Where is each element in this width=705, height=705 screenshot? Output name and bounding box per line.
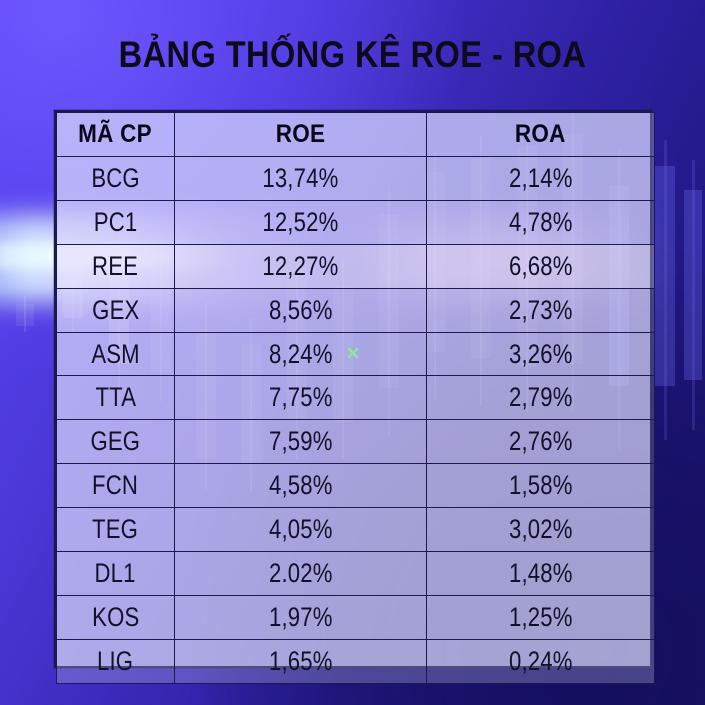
table-row: LIG 1,65% 0,24% [57, 639, 655, 683]
cell-code: TEG [57, 508, 175, 552]
cell-code: DL1 [57, 552, 175, 596]
cell-roa: 3,02% [427, 508, 655, 552]
cell-roe: 7,59% [175, 420, 427, 464]
table-row: TTA 7,75% 2,79% [57, 376, 655, 420]
cell-code-text: BCG [91, 163, 139, 194]
table-row: GEG 7,59% 2,76% [57, 420, 655, 464]
cell-code: FCN [57, 464, 175, 508]
roe-roa-table: MÃ CP ROE ROA BCG 13,74% 2,14% PC1 12,52… [56, 112, 655, 684]
cell-code-text: GEX [92, 295, 139, 326]
column-header-roe-label: ROE [276, 120, 326, 149]
cell-code-text: TTA [95, 382, 136, 413]
cell-roa: 6,68% [427, 244, 655, 288]
cell-roa: 4,78% [427, 200, 655, 244]
cell-roa-text: 3,02% [509, 514, 573, 545]
cell-roe-text: 7,75% [269, 382, 333, 413]
cell-roa: 1,48% [427, 552, 655, 596]
cell-roa: 2,79% [427, 376, 655, 420]
cell-roe-text: 1,97% [269, 602, 333, 633]
table-row: TEG 4,05% 3,02% [57, 508, 655, 552]
cell-code: GEG [57, 420, 175, 464]
cell-roa: 2,73% [427, 288, 655, 332]
cell-code-text: KOS [92, 602, 139, 633]
cell-roe-text: 8,56% [269, 295, 333, 326]
cell-code: ASM [57, 332, 175, 376]
cell-roa-text: 2,73% [509, 295, 573, 326]
column-header-code: MÃ CP [57, 113, 175, 157]
cell-roe: 8,24% [175, 332, 427, 376]
cell-roa: 1,25% [427, 595, 655, 639]
cell-code-text: LIG [97, 646, 133, 677]
column-header-roa: ROA [427, 113, 655, 157]
cell-code: KOS [57, 595, 175, 639]
table-row: BCG 13,74% 2,14% [57, 157, 655, 201]
cell-roa-text: 2,79% [509, 382, 573, 413]
cell-code-text: TEG [92, 514, 138, 545]
cell-code-text: DL1 [95, 558, 136, 589]
cell-roe: 13,74% [175, 157, 427, 201]
cell-roe-text: 8,24% [269, 339, 333, 370]
table-row: DL1 2.02% 1,48% [57, 552, 655, 596]
cell-code-text: GEG [91, 426, 141, 457]
cell-roe-text: 4,05% [269, 514, 333, 545]
cell-roe-text: 2.02% [269, 558, 333, 589]
table-header-row: MÃ CP ROE ROA [57, 113, 655, 157]
cell-roe: 7,75% [175, 376, 427, 420]
cell-roa-text: 1,25% [509, 602, 573, 633]
cell-roe-text: 7,59% [269, 426, 333, 457]
cell-roe-text: 1,65% [269, 646, 333, 677]
cell-roa: 2,14% [427, 157, 655, 201]
cell-roe-text: 12,27% [262, 251, 338, 282]
cell-roe: 4,05% [175, 508, 427, 552]
cell-code: PC1 [57, 200, 175, 244]
column-header-roe: ROE [175, 113, 427, 157]
column-header-code-label: MÃ CP [79, 120, 153, 149]
cell-roa-text: 1,48% [509, 558, 573, 589]
cell-roe-text: 13,74% [262, 163, 338, 194]
cell-code: REE [57, 244, 175, 288]
cell-roe: 1,97% [175, 595, 427, 639]
column-header-roa-label: ROA [515, 120, 566, 149]
cell-roa: 0,24% [427, 639, 655, 683]
roe-roa-table-container: MÃ CP ROE ROA BCG 13,74% 2,14% PC1 12,52… [54, 110, 652, 668]
table-row: REE 12,27% 6,68% [57, 244, 655, 288]
cell-roa-text: 4,78% [509, 207, 573, 238]
table-row: FCN 4,58% 1,58% [57, 464, 655, 508]
table-row: PC1 12,52% 4,78% [57, 200, 655, 244]
cell-roa-text: 0,24% [509, 646, 573, 677]
cell-roe: 12,27% [175, 244, 427, 288]
cell-roe-text: 12,52% [262, 207, 338, 238]
cell-roe: 4,58% [175, 464, 427, 508]
cell-roe: 12,52% [175, 200, 427, 244]
cell-roa: 3,26% [427, 332, 655, 376]
page-title: BẢNG THỐNG KÊ ROE - ROA [42, 34, 662, 76]
infographic-canvas: BẢNG THỐNG KÊ ROE - ROA MÃ CP ROE ROA BC… [0, 0, 705, 705]
cell-roe-text: 4,58% [269, 470, 333, 501]
table-body: BCG 13,74% 2,14% PC1 12,52% 4,78% REE 12… [57, 157, 655, 684]
table-row: ASM 8,24% 3,26% [57, 332, 655, 376]
table-header: MÃ CP ROE ROA [57, 113, 655, 157]
cell-code: LIG [57, 639, 175, 683]
cell-code-text: ASM [91, 339, 139, 370]
cell-roa-text: 1,58% [509, 470, 573, 501]
cell-roa-text: 3,26% [509, 339, 573, 370]
cell-code-text: FCN [93, 470, 139, 501]
cell-roa-text: 2,76% [509, 426, 573, 457]
cell-code: GEX [57, 288, 175, 332]
cell-code: BCG [57, 157, 175, 201]
cell-roa-text: 2,14% [509, 163, 573, 194]
table-row: GEX 8,56% 2,73% [57, 288, 655, 332]
cell-roa: 2,76% [427, 420, 655, 464]
cell-code-text: PC1 [94, 207, 138, 238]
cell-code-text: REE [92, 251, 138, 282]
cell-roe: 8,56% [175, 288, 427, 332]
cell-roe: 2.02% [175, 552, 427, 596]
cell-roe: 1,65% [175, 639, 427, 683]
table-row: KOS 1,97% 1,25% [57, 595, 655, 639]
cell-roa-text: 6,68% [509, 251, 573, 282]
cell-roa: 1,58% [427, 464, 655, 508]
cell-code: TTA [57, 376, 175, 420]
